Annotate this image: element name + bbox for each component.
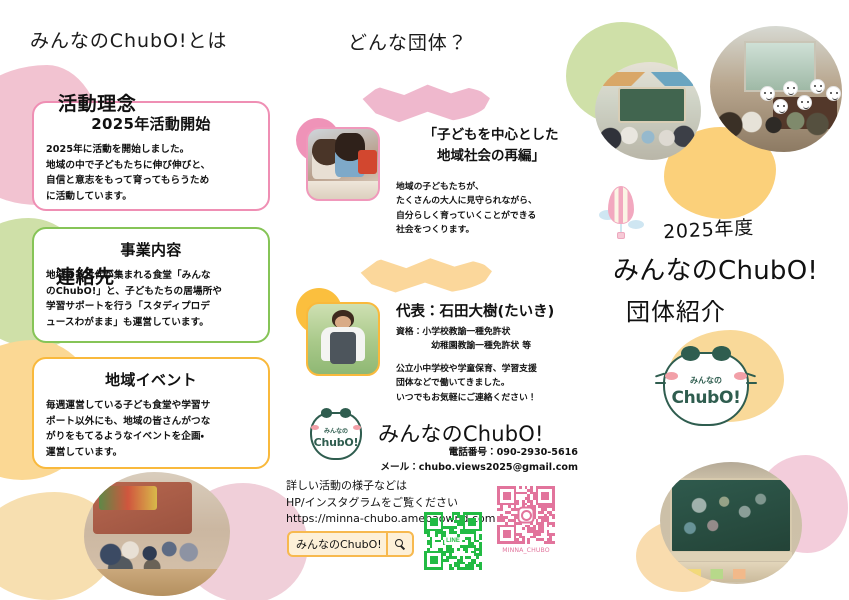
card-body: 2025年に活動を開始しました。 地域の中で子どもたちに伸び伸びと、 自信と意志…	[46, 142, 256, 204]
organization-logo-large: みんなの ChubO!	[663, 352, 749, 426]
qr-badge-label: LINE	[444, 537, 462, 545]
qr-code-line[interactable]: LINE	[424, 512, 482, 570]
hot-air-balloon-icon	[599, 186, 643, 246]
section-heading-contact: 連絡先	[56, 262, 115, 289]
brand-title: みんなのChubO!	[613, 250, 818, 287]
section-heading-philosophy: 活動理念	[58, 89, 136, 116]
logo-bottom-text: ChubO!	[663, 388, 749, 408]
organization-logo-small: みんなの ChubO!	[310, 412, 362, 460]
brand-subtitle: 団体紹介	[626, 292, 726, 327]
representative-career: 公立小中学校や学童保育、学習支援 団体などで働いてきました。 いつでもお気軽にご…	[396, 362, 601, 405]
card-body: 毎週運営している子ども食堂や学習サ ポート以外にも、地域の皆さんがつな がりをも…	[46, 398, 256, 460]
qr-code-instagram[interactable]: MINNA_CHUBO	[497, 486, 555, 544]
photo-representative	[306, 302, 380, 376]
year-label: 2025年度	[662, 213, 754, 245]
email-line: メール：chubo.views2025@gmail.com	[330, 461, 578, 476]
photo-group-members	[84, 472, 230, 596]
magnifier-icon	[395, 539, 406, 550]
phone-line: 電話番号：090-2930-5616	[330, 446, 578, 461]
philosophy-quote: 「子どもを中心とした 地域社会の再編」	[396, 125, 586, 167]
search-input-text[interactable]: みんなのChubO!	[289, 536, 386, 552]
card-title: 2025年活動開始	[46, 113, 256, 134]
photo-community-dining	[710, 26, 842, 152]
photo-menu-blackboard	[660, 462, 802, 584]
card-title: 事業内容	[46, 239, 256, 260]
representative-qualifications: 資格：小学校教諭一種免許状 幼稚園教諭一種免許状 等	[396, 325, 596, 354]
photo-classroom-blackboard	[595, 62, 701, 160]
photo-children-crafting	[306, 127, 380, 201]
philosophy-body: 地域の子どもたちが、 たくさんの大人に見守られながら、 自分らしく育っていくこと…	[396, 180, 591, 237]
card-title: 地域イベント	[46, 369, 256, 390]
card-community-events: 地域イベント 毎週運営している子ども食堂や学習サ ポート以外にも、地域の皆さんが…	[32, 357, 270, 469]
logo-top-text: みんなの	[663, 375, 749, 386]
representative-name: 代表：石田大樹(たいき)	[396, 300, 554, 321]
left-column-heading: みんなのChubO!とは	[30, 26, 227, 53]
qr-caption: MINNA_CHUBO	[502, 547, 550, 554]
logo-bottom-text: ChubO!	[310, 436, 362, 449]
brochure-page: みんなのChubO!とは 2025年活動開始 2025年に活動を開始しました。 …	[0, 0, 849, 600]
search-bar-graphic[interactable]: みんなのChubO!	[287, 531, 414, 557]
logo-top-text: みんなの	[310, 426, 362, 435]
instagram-icon	[518, 507, 535, 524]
search-button[interactable]	[386, 533, 412, 555]
organization-name: みんなのChubO!	[378, 418, 544, 448]
contact-details: 電話番号：090-2930-5616 メール：chubo.views2025@g…	[330, 446, 578, 476]
card-activity-start: 2025年活動開始 2025年に活動を開始しました。 地域の中で子どもたちに伸び…	[32, 101, 270, 211]
middle-column-heading: どんな団体？	[348, 28, 468, 55]
